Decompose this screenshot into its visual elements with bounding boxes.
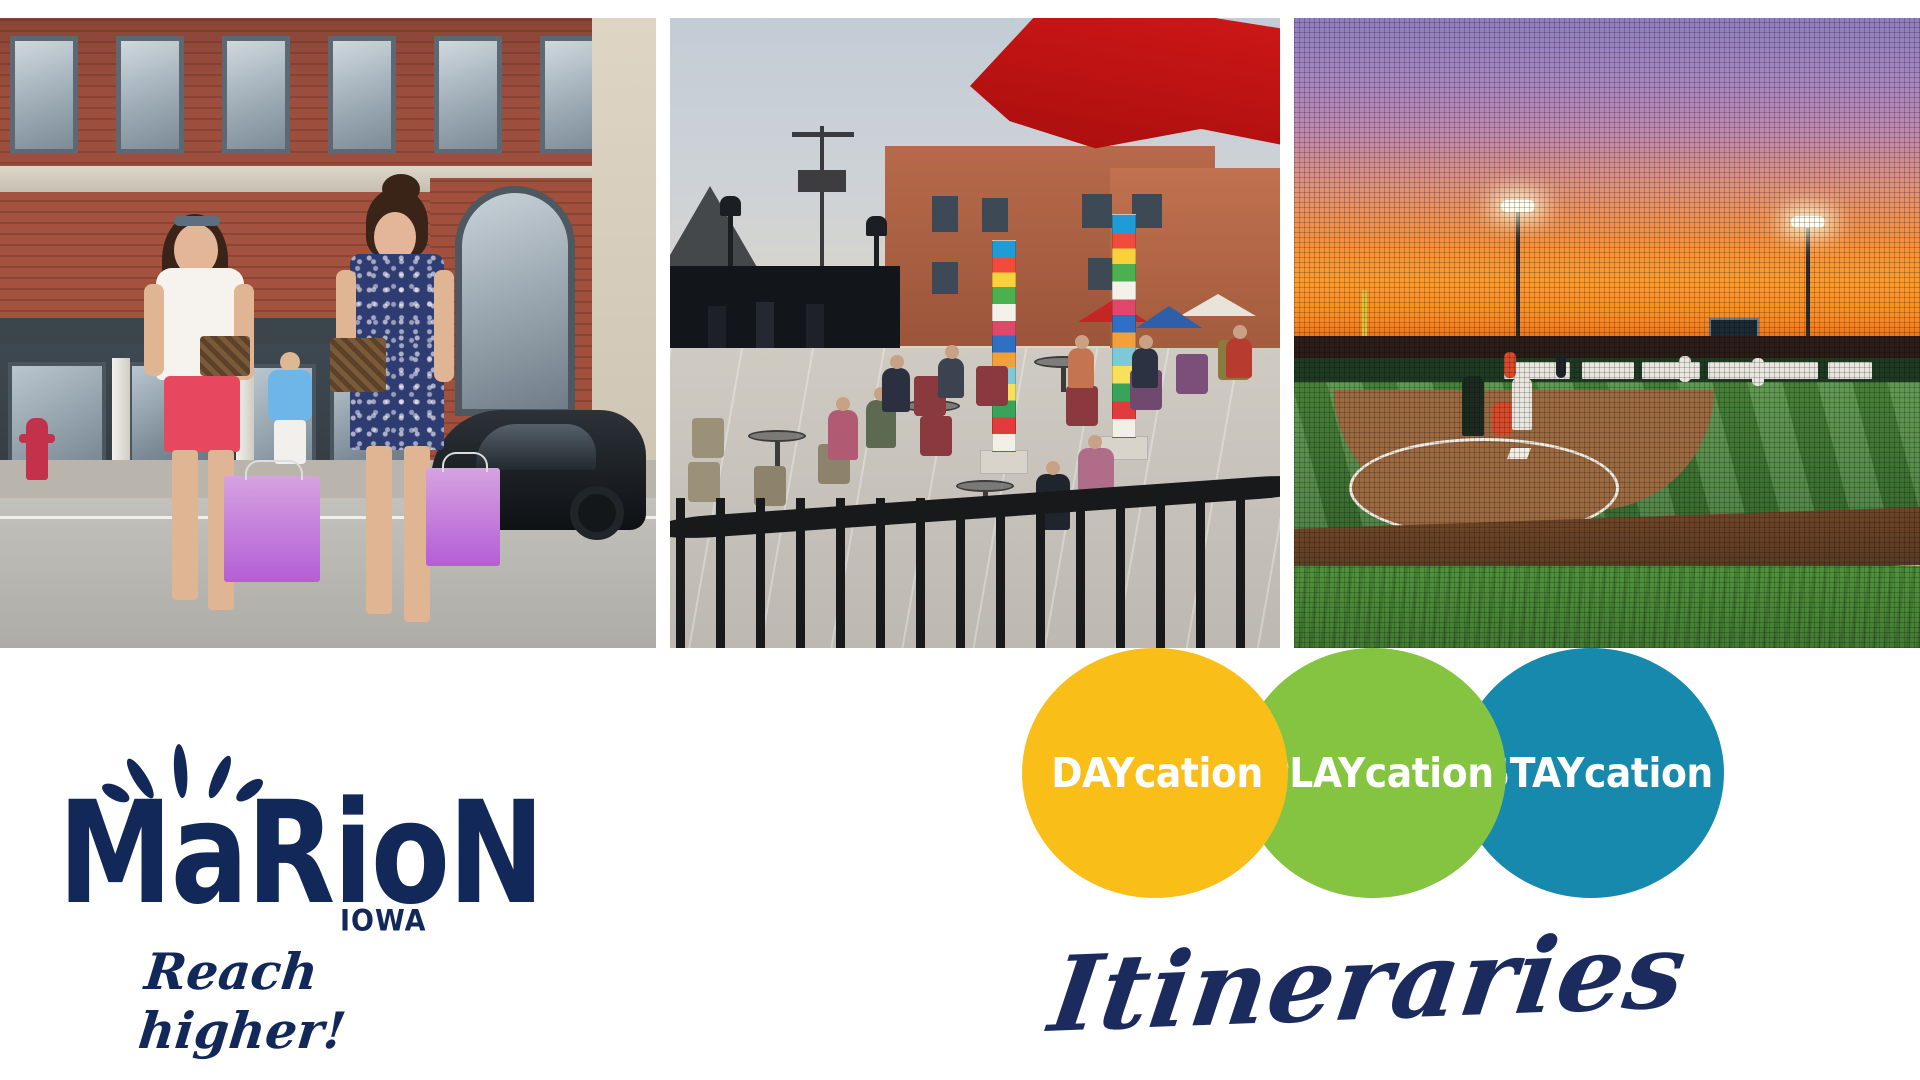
home-plate (1507, 448, 1531, 459)
logo-state-label: IOWA (340, 904, 426, 938)
fielder (1752, 358, 1764, 386)
fielder (1504, 352, 1516, 378)
staycation-label: STAYcation (1483, 749, 1713, 797)
baseball-sunset-photo (1294, 18, 1920, 648)
patio-guest (938, 358, 964, 398)
band-member (708, 306, 726, 352)
patio-guest (882, 368, 910, 412)
car-window (476, 424, 596, 470)
shopper-woman-right (330, 188, 460, 648)
foreground-grass (1294, 566, 1920, 648)
stadium-light (1791, 216, 1825, 228)
daycation-circle[interactable]: DAYcation (1022, 648, 1288, 898)
shopper-woman-left (140, 208, 260, 648)
downtown-shopping-photo (0, 18, 656, 648)
logo-tagline: Reach higher! (136, 942, 484, 1060)
stadium-light (1501, 200, 1535, 212)
sunset-sky (1294, 18, 1920, 353)
limestone-wall (592, 18, 656, 478)
marion-iowa-logo: MaRioN IOWA Reach higher! (58, 736, 478, 976)
umpire (1462, 376, 1484, 436)
fire-hydrant (26, 418, 48, 480)
logo-wordmark: MaRioN (58, 784, 543, 926)
fielder (1679, 356, 1691, 382)
patio-guest (1226, 338, 1252, 378)
upper-windows (10, 36, 640, 156)
patio-guest (1068, 348, 1094, 388)
vacation-circles-group: STAYcation PLAYcation DAYcation (1022, 648, 1722, 898)
band-member (806, 304, 824, 352)
lower-branding-band: MaRioN IOWA Reach higher! STAYcation PLA… (0, 648, 1920, 1080)
patio-guest (828, 410, 858, 460)
batter (1512, 378, 1532, 430)
band-member (756, 302, 774, 352)
daycation-label: DAYcation (1051, 749, 1263, 797)
balcony-railing (670, 473, 1280, 648)
fielder (1556, 354, 1566, 378)
catcher (1492, 402, 1514, 436)
photo-strip (0, 18, 1920, 648)
arched-window (455, 186, 575, 416)
art-totem-sculpture (992, 240, 1016, 452)
patio-concert-photo (670, 18, 1280, 648)
patio-guest (1132, 348, 1158, 388)
itineraries-headline: Itineraries (1043, 909, 1694, 1056)
playcation-label: PLAYcation (1262, 749, 1494, 797)
